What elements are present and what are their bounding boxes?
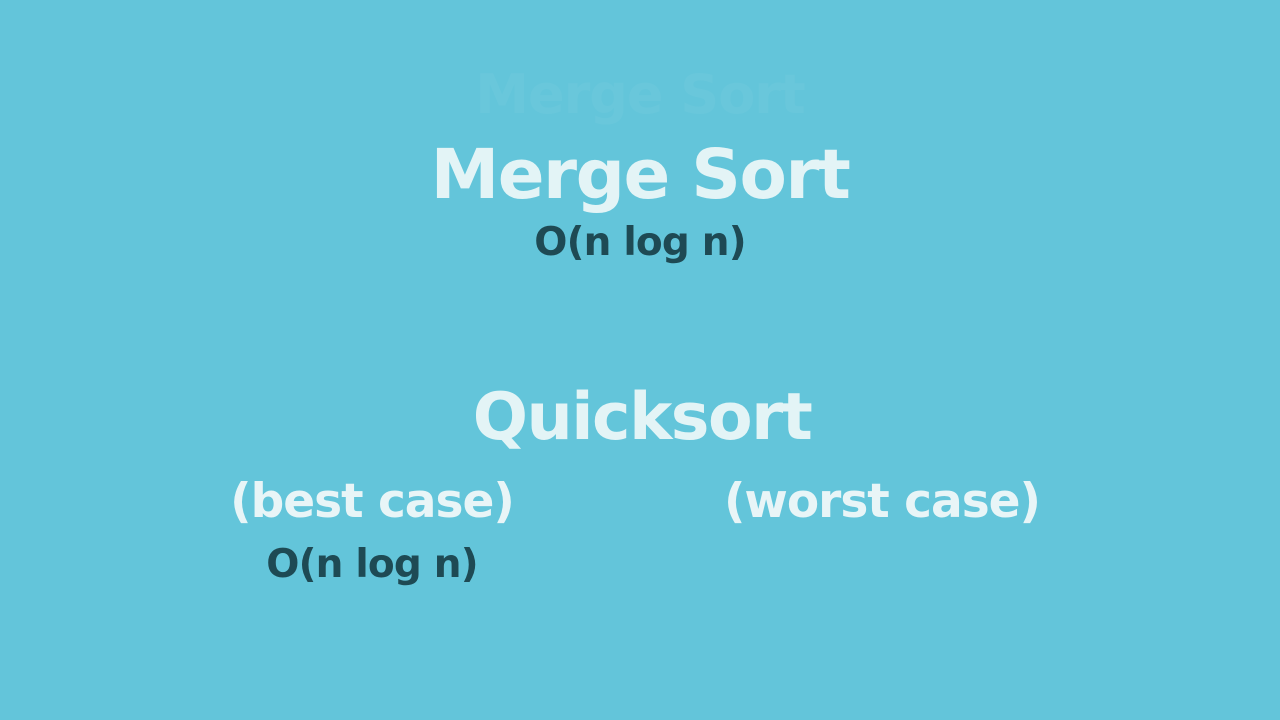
merge-sort-complexity: O(n log n): [534, 223, 746, 262]
slide-canvas: Merge Sort Merge Sort O(n log n) Quickso…: [0, 0, 1280, 720]
merge-sort-title: Merge Sort: [431, 141, 850, 210]
quicksort-best-case-label: (best case): [230, 478, 514, 525]
ghost-residual-text: Merge Sort: [475, 68, 805, 122]
quicksort-worst-case-label: (worst case): [724, 478, 1040, 525]
quicksort-title: Quicksort: [473, 385, 812, 450]
quicksort-best-case-complexity: O(n log n): [266, 545, 478, 584]
